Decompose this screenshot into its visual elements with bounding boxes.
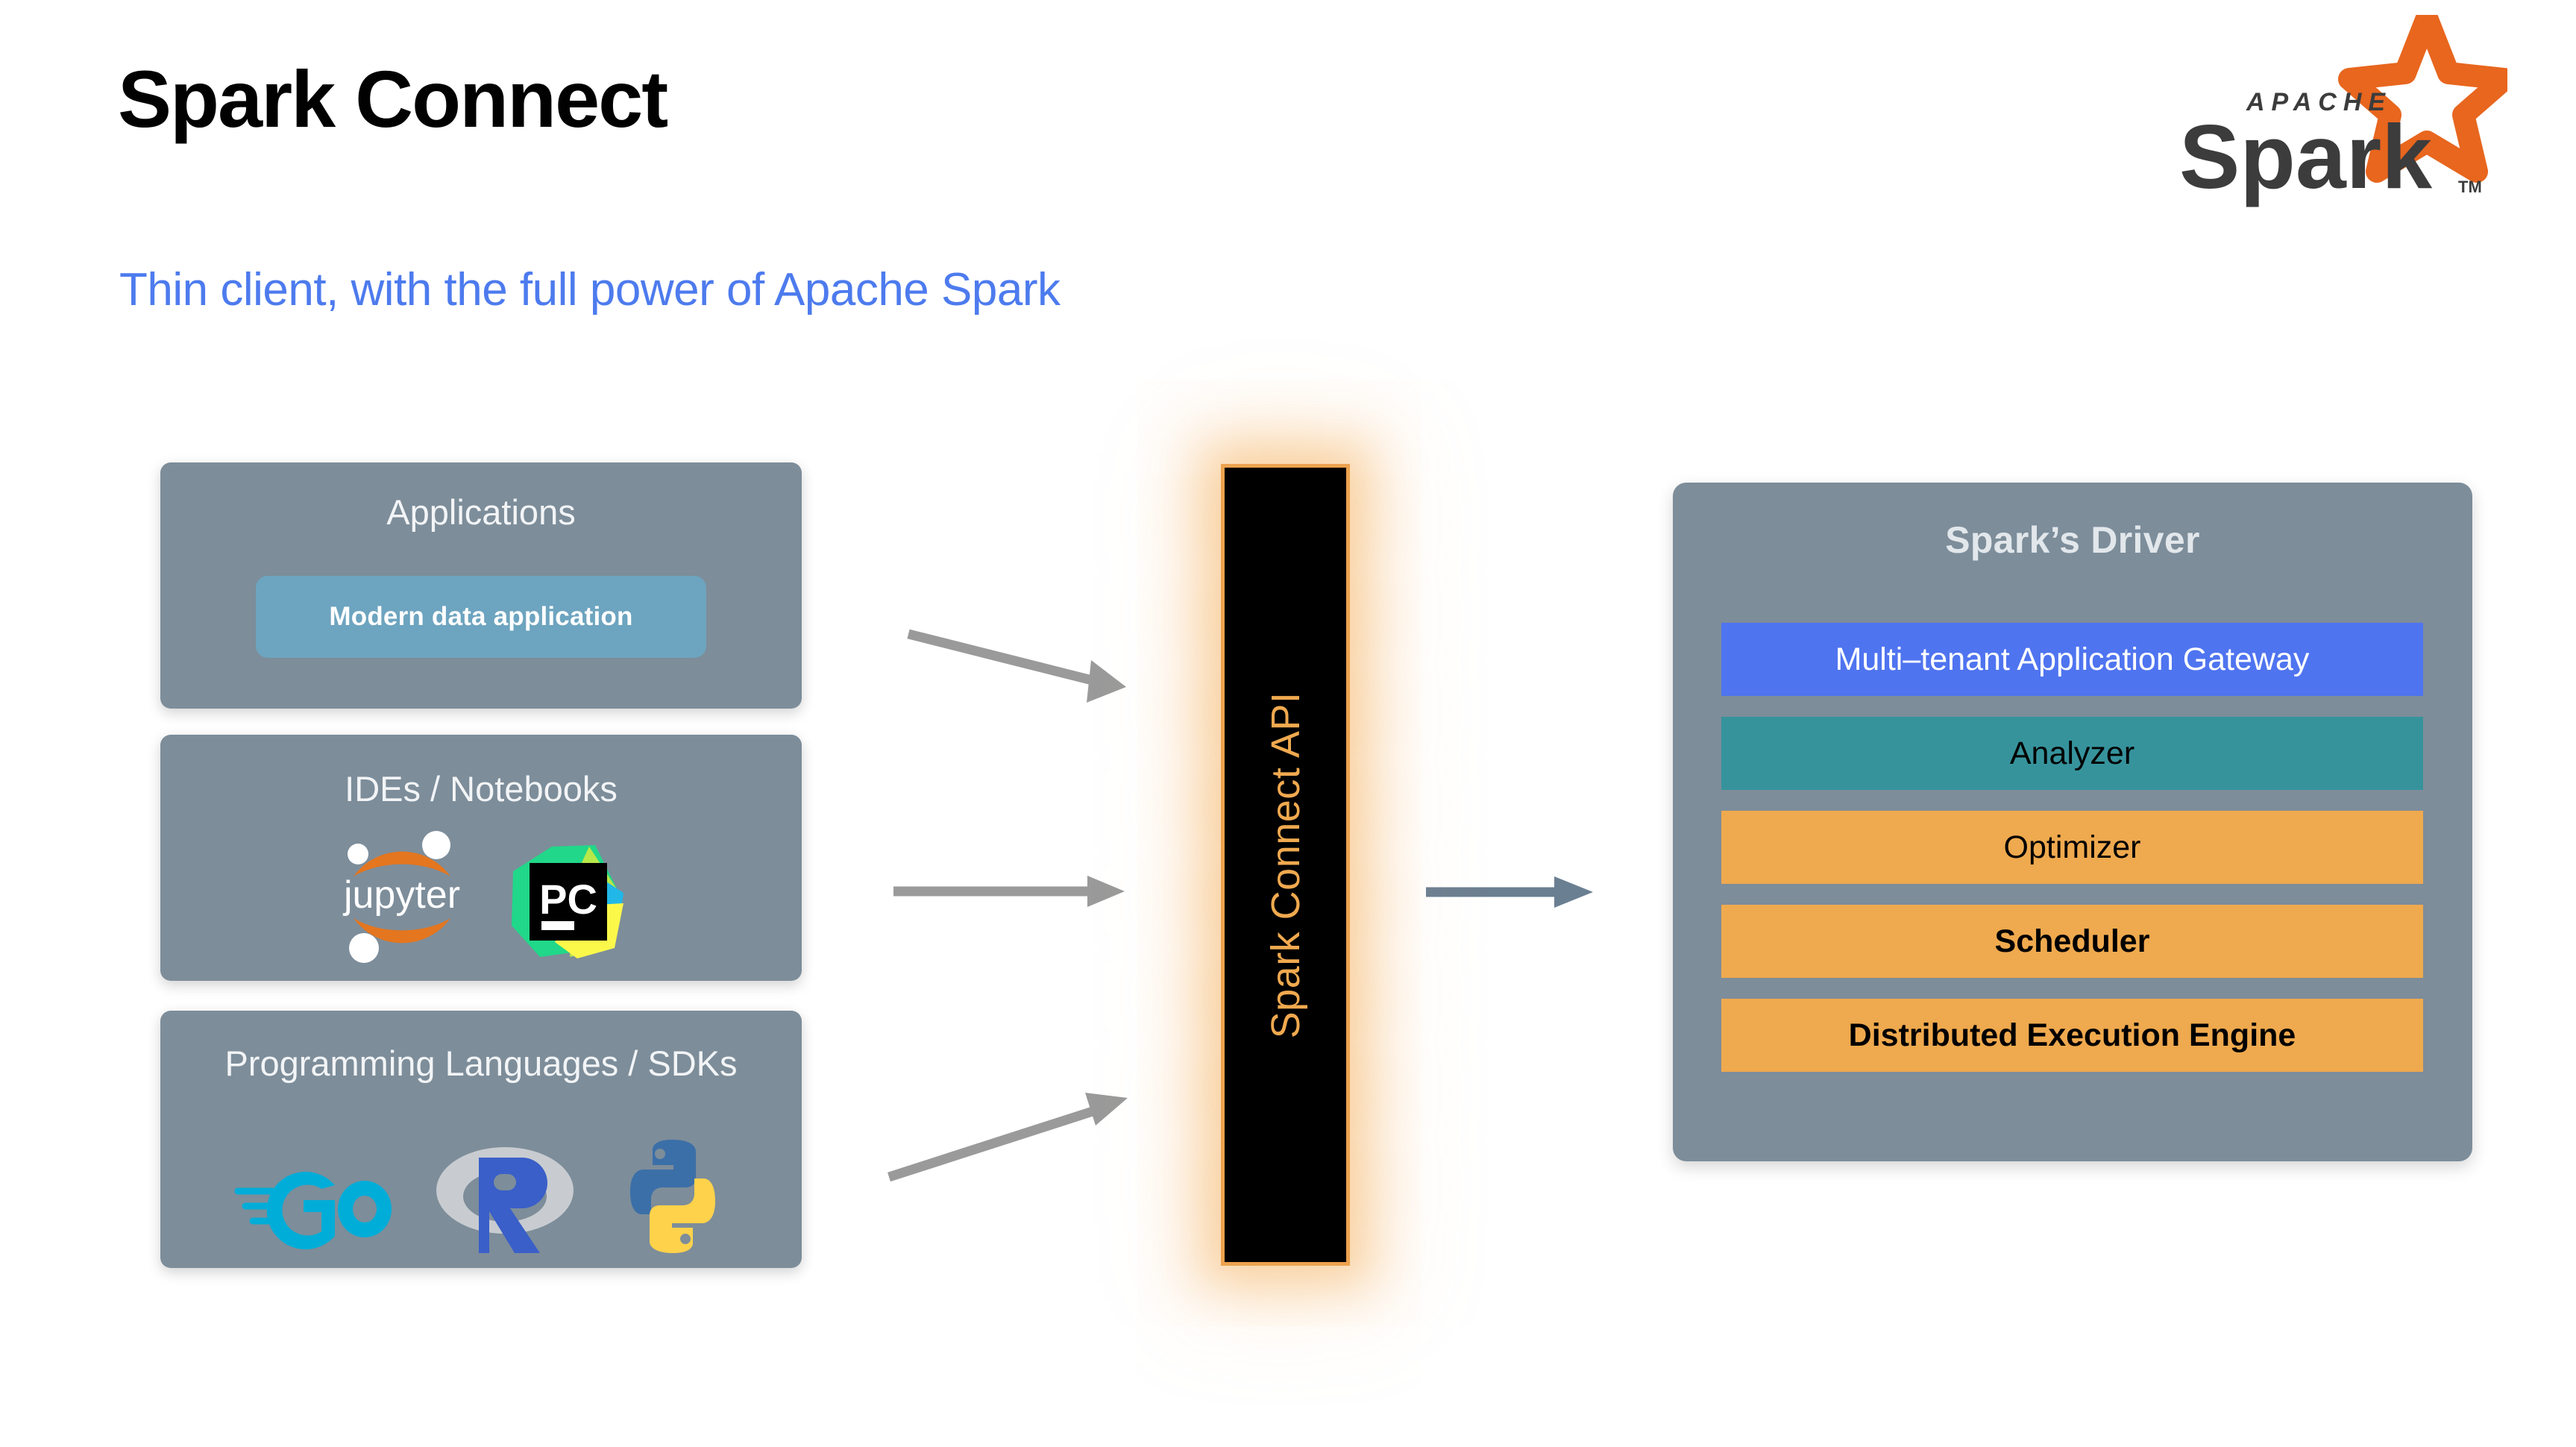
arrow-api-to-driver (1426, 876, 1593, 908)
driver-layer-distributed-execution-engine[interactable]: Distributed Execution Engine (1721, 999, 2423, 1072)
driver-layer-scheduler[interactable]: Scheduler (1721, 905, 2423, 978)
arrow-langs-to-api (889, 1093, 1128, 1177)
page-title: Spark Connect (118, 56, 667, 143)
language-logo-row (160, 1137, 802, 1256)
svg-text:PC: PC (539, 876, 597, 923)
logo-word-spark: Spark (2179, 106, 2432, 207)
apache-spark-logo: APACHE Spark TM (2134, 15, 2507, 213)
pycharm-logo: PC (506, 838, 629, 964)
logo-trademark: TM (2458, 178, 2482, 196)
go-logo (233, 1163, 394, 1256)
card-title-applications: Applications (160, 491, 802, 533)
page-subtitle: Thin client, with the full power of Apac… (119, 265, 1060, 316)
ide-logo-row: jupyter PC (160, 830, 802, 964)
driver-layer-optimizer[interactable]: Optimizer (1721, 811, 2423, 884)
spark-driver-panel[interactable]: Spark’s Driver Multi–tenant Application … (1673, 483, 2472, 1161)
card-title-programming-languages: Programming Languages / SDKs (160, 1042, 802, 1085)
client-card-ides-notebooks[interactable]: IDEs / Notebooks jupyter PC (160, 735, 802, 981)
jupyter-logo: jupyter (334, 830, 483, 964)
driver-layer-analyzer[interactable]: Analyzer (1721, 717, 2423, 790)
modern-data-application-pill[interactable]: Modern data application (256, 576, 706, 658)
spark-connect-api-bar[interactable]: Spark Connect API (1221, 464, 1350, 1266)
arrow-apps-to-api (908, 634, 1126, 703)
svg-text:jupyter: jupyter (342, 873, 459, 917)
arrow-ides-to-api (893, 876, 1125, 907)
client-card-programming-languages[interactable]: Programming Languages / SDKs (160, 1011, 802, 1268)
r-logo (433, 1144, 578, 1256)
slide-canvas: Spark Connect Thin client, with the full… (0, 0, 2576, 1447)
driver-panel-title: Spark’s Driver (1673, 518, 2472, 562)
spark-connect-api-label: Spark Connect API (1263, 691, 1309, 1038)
python-logo (617, 1137, 729, 1256)
driver-layer-stack: Multi–tenant Application Gateway Analyze… (1721, 623, 2423, 1072)
card-title-ides-notebooks: IDEs / Notebooks (160, 768, 802, 810)
client-card-applications[interactable]: Applications Modern data application (160, 462, 802, 709)
driver-layer-multi-tenant-application-gateway[interactable]: Multi–tenant Application Gateway (1721, 623, 2423, 696)
